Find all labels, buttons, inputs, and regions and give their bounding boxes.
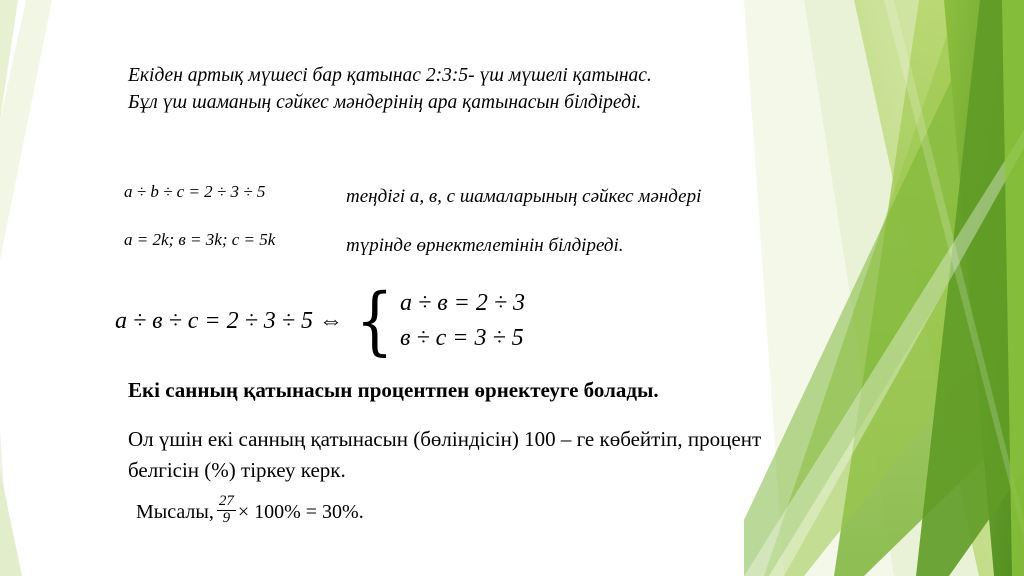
fraction-numerator: 27 bbox=[217, 494, 236, 510]
bold-heading: Екі санның қатынасын процентпен өрнектеу… bbox=[128, 378, 659, 403]
example-overlap-group: 27 9 bbox=[216, 497, 237, 530]
body-paragraph: Ол үшін екі санның қатынасын (бөліндісін… bbox=[128, 424, 788, 486]
example-rest: × 100% = 30%. bbox=[238, 501, 364, 524]
equation-k-form: a = 2k; в = 3k; c = 5k bbox=[124, 230, 275, 250]
equation-system-lhs: а ÷ в ÷ с = 2 ÷ 3 ÷ 5 ⇔ bbox=[115, 308, 343, 335]
example-line: Мысалы, 27 9 × 100% = 30%. bbox=[136, 497, 364, 530]
note-equality: теңдігі a, в, с шамаларының сәйкес мәнде… bbox=[346, 186, 701, 208]
example-prefix: Мысалы, bbox=[136, 501, 214, 524]
equation-system-row-2: в ÷ с = 3 ÷ 5 bbox=[400, 325, 525, 352]
right-decoration bbox=[744, 0, 1024, 576]
left-decoration bbox=[0, 0, 60, 576]
equation-system-row-1: а ÷ в = 2 ÷ 3 bbox=[400, 290, 525, 317]
slide: Екіден артық мүшесі бар қатынас 2:3:5- ү… bbox=[0, 0, 1024, 576]
equation-system-rows: а ÷ в = 2 ÷ 3 в ÷ с = 3 ÷ 5 bbox=[400, 290, 525, 352]
left-brace-glyph: { bbox=[356, 286, 394, 356]
right-decoration-svg bbox=[744, 0, 1024, 576]
intro-paragraph: Екіден артық мүшесі бар қатынас 2:3:5- ү… bbox=[128, 62, 668, 116]
left-decoration-svg bbox=[0, 0, 60, 576]
fraction-denominator: 9 bbox=[221, 511, 233, 527]
example-fraction: 27 9 bbox=[217, 494, 236, 527]
equation-ratio-abc: a ÷ b ÷ c = 2 ÷ 3 ÷ 5 bbox=[124, 182, 265, 202]
equation-system: а ÷ в ÷ с = 2 ÷ 3 ÷ 5 ⇔ { а ÷ в = 2 ÷ 3 … bbox=[115, 286, 525, 356]
note-form: түрінде өрнектелетінін білдіреді. bbox=[346, 235, 624, 257]
